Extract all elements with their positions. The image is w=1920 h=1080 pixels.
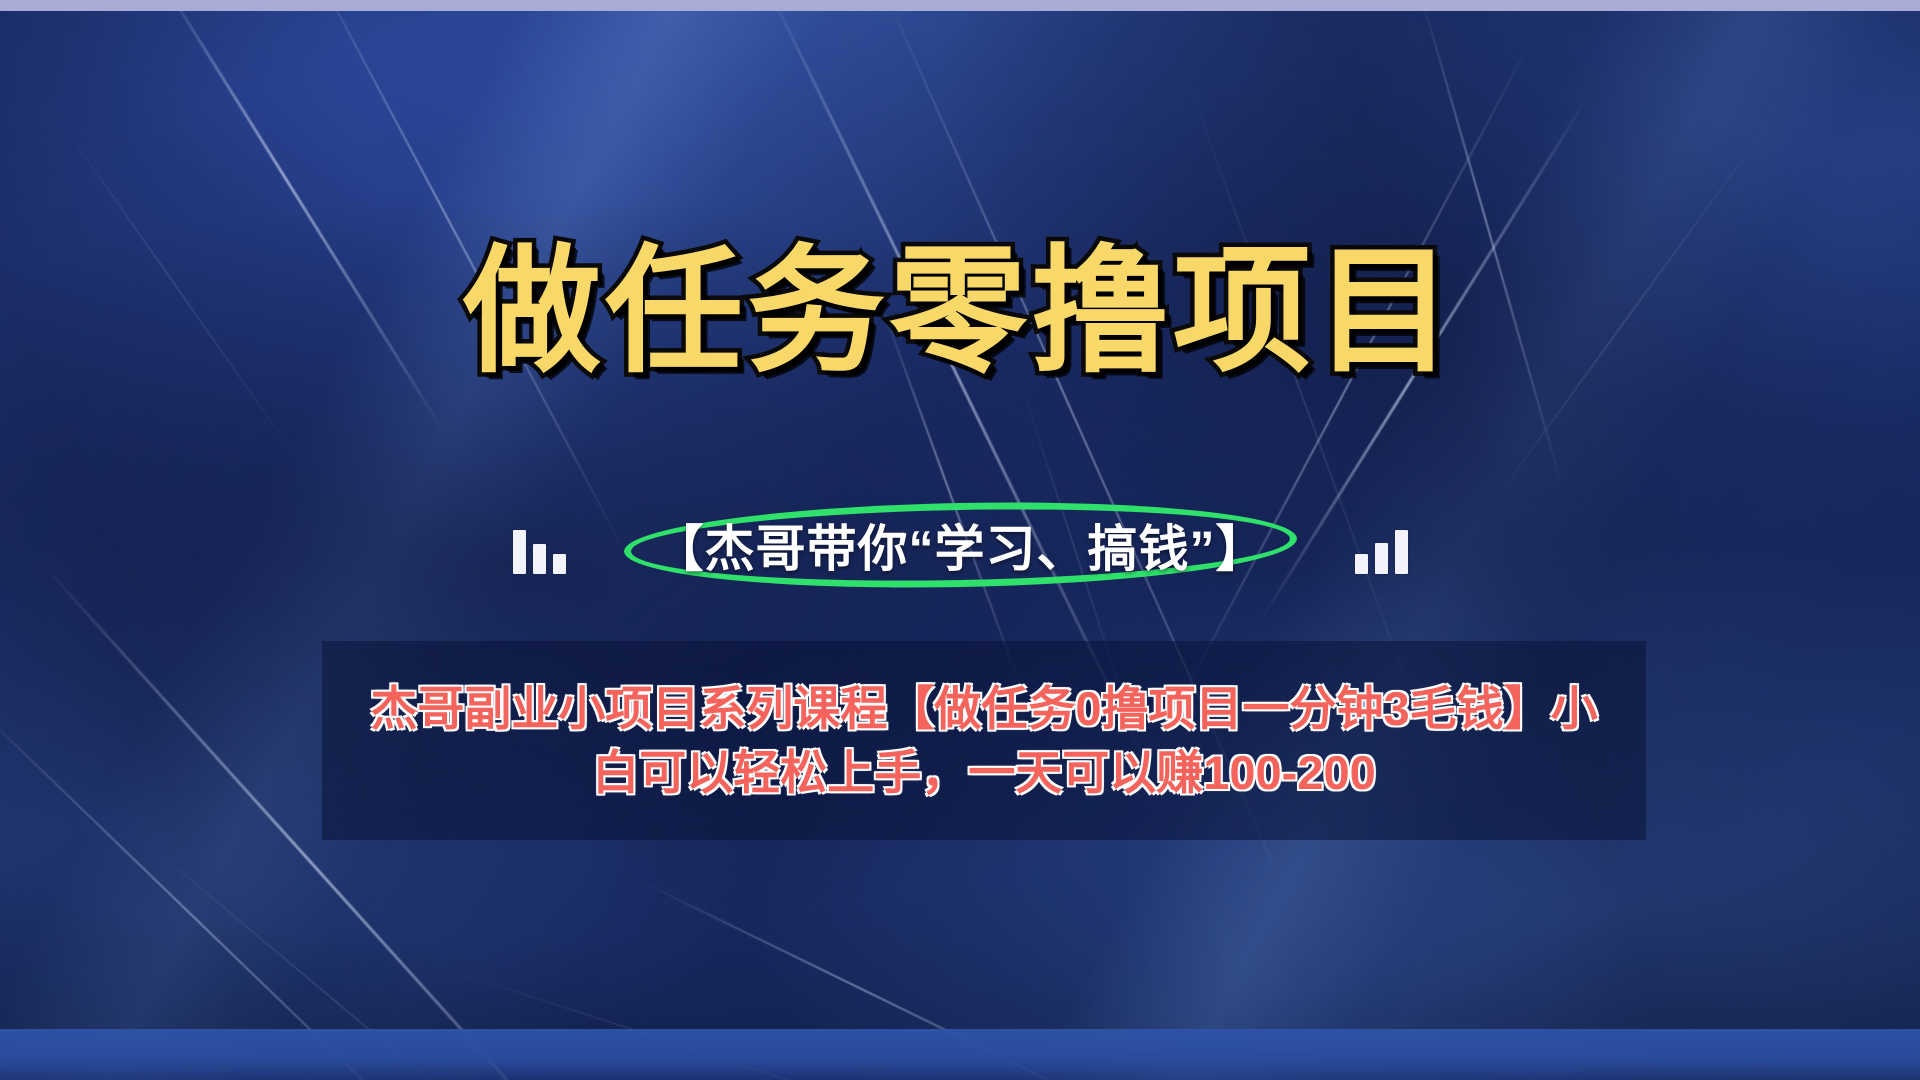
headline-text: 做任务零撸项目: [463, 242, 1457, 380]
bar-segment: [1375, 543, 1388, 574]
bar-segment: [1395, 530, 1408, 574]
bar-segment: [1355, 554, 1368, 574]
description-text: 杰哥副业小项目系列课程【做任务0撸项目一分钟3毛钱】小白可以轻松上手，一天可以赚…: [369, 677, 1599, 805]
bar-segment: [533, 544, 546, 574]
description-panel: 杰哥副业小项目系列课程【做任务0撸项目一分钟3毛钱】小白可以轻松上手，一天可以赚…: [322, 641, 1646, 840]
artwork-canvas: 做任务零撸项目 【杰哥带你“学习、搞钱”】 杰哥副业小项目系列课程【做任务0撸项…: [0, 0, 1920, 1080]
subtitle-badge: 【杰哥带你“学习、搞钱”】: [624, 501, 1297, 601]
bar-segment: [513, 530, 526, 574]
promo-cover-stage: 做任务零撸项目 【杰哥带你“学习、搞钱”】 杰哥副业小项目系列课程【做任务0撸项…: [0, 0, 1920, 1080]
page-title: 做任务零撸项目: [0, 242, 1920, 380]
subtitle-row: 【杰哥带你“学习、搞钱”】: [0, 505, 1920, 597]
bar-segment: [553, 554, 566, 574]
bar-chart-ascending-icon: [1355, 528, 1408, 574]
subtitle-text: 【杰哥带你“学习、搞钱”】: [654, 521, 1267, 577]
top-strip: [0, 0, 1920, 11]
bottom-band: [0, 1029, 1920, 1080]
bar-chart-descending-icon: [513, 528, 566, 574]
